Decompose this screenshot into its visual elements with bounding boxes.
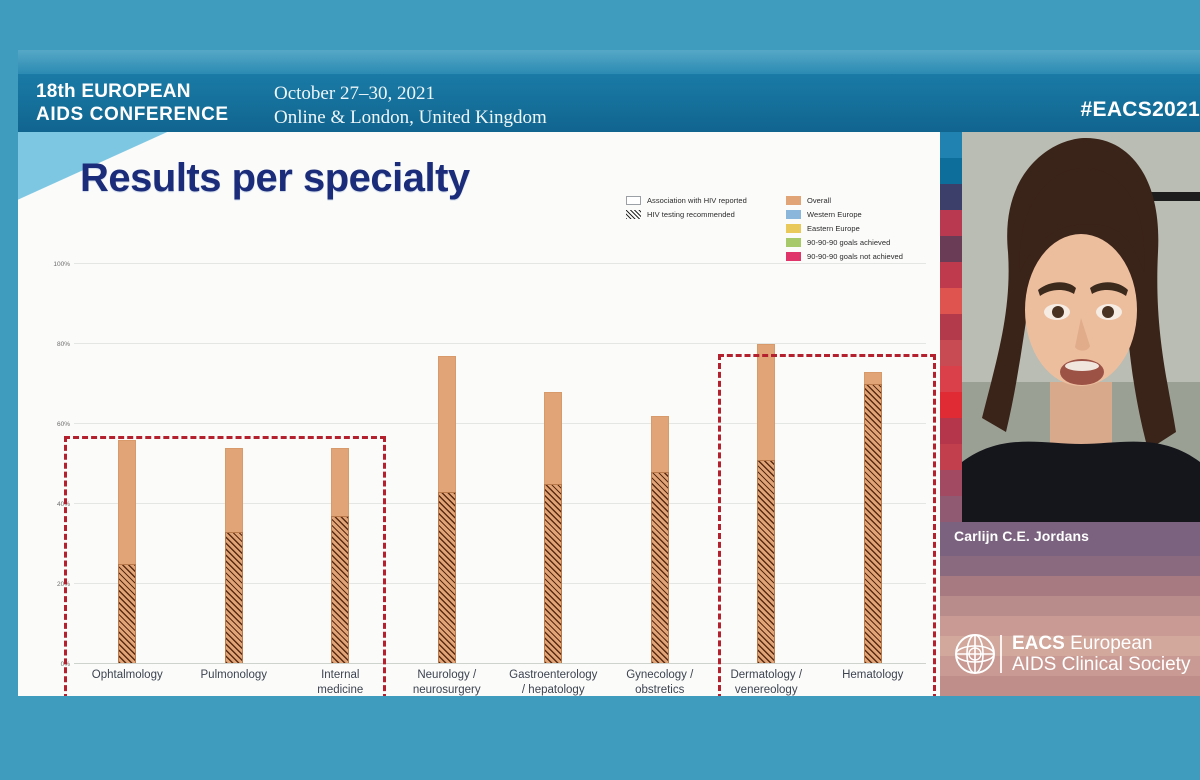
legend-item-pattern-0: Association with HIV reported xyxy=(626,194,747,206)
video-stripe xyxy=(940,444,962,470)
legend-color-swatch xyxy=(786,238,801,247)
x-axis-label-line: neurosurgery xyxy=(389,683,505,696)
legend-item-color-0: Overall xyxy=(786,194,903,206)
video-stripe xyxy=(940,392,962,418)
video-stripe xyxy=(940,418,962,444)
speaker-name: Carlijn C.E. Jordans xyxy=(954,528,1089,544)
eacs-logo: EACS European AIDS Clinical Society xyxy=(954,628,1194,680)
legend-item-color-1: Western Europe xyxy=(786,208,903,220)
eacs-acronym: EACS xyxy=(1012,633,1065,654)
annotation-box-low xyxy=(64,436,386,696)
video-background-band xyxy=(940,576,1200,596)
bar-segment-testing-recommended xyxy=(651,472,669,664)
bar-segment-testing-recommended xyxy=(438,492,456,664)
diagonal-hatch-icon xyxy=(626,210,641,219)
slide-title: Results per specialty xyxy=(80,156,470,201)
x-axis-label-line: / hepatology xyxy=(495,683,611,696)
hollow-square-icon xyxy=(626,196,641,205)
chart-bar xyxy=(438,356,456,664)
annotation-box-high xyxy=(718,354,936,696)
y-axis-tick-label: 80% xyxy=(40,341,70,348)
legend-label: Eastern Europe xyxy=(807,224,860,233)
presentation-slide: Results per specialty Association with H… xyxy=(18,132,940,696)
video-stripe xyxy=(940,314,962,340)
legend-pattern-column: Association with HIV reportedHIV testing… xyxy=(626,194,747,222)
video-stripe xyxy=(940,470,962,496)
x-axis-label-line: Neurology / xyxy=(389,668,505,683)
video-stripe xyxy=(940,158,962,184)
screen: 18th EUROPEAN AIDS CONFERENCE October 27… xyxy=(0,0,1200,780)
legend-label: Overall xyxy=(807,196,831,205)
eacs-globe-icon xyxy=(954,633,996,675)
video-background-band xyxy=(940,596,1200,616)
chart-gridline xyxy=(74,263,926,264)
legend-color-swatch xyxy=(786,224,801,233)
legend-color-swatch xyxy=(786,252,801,261)
x-axis-label: Gastroenterology/ hepatology xyxy=(495,668,611,696)
legend-item-color-2: Eastern Europe xyxy=(786,222,903,234)
video-stripe xyxy=(940,236,962,262)
video-background-band xyxy=(940,556,1200,576)
video-stripe xyxy=(940,262,962,288)
x-axis-label: Neurology /neurosurgery xyxy=(389,668,505,696)
video-stripe xyxy=(940,496,962,522)
y-axis-tick-label: 100% xyxy=(40,261,70,268)
video-stripe xyxy=(940,340,962,366)
conference-hashtag: #EACS2021 xyxy=(1081,98,1200,122)
y-axis-tick-label: 60% xyxy=(40,421,70,428)
legend-item-color-4: 90-90-90 goals not achieved xyxy=(786,250,903,262)
legend-label: 90-90-90 goals achieved xyxy=(807,238,890,247)
video-color-stripes xyxy=(940,132,962,522)
eacs-logo-text: EACS European AIDS Clinical Society xyxy=(1012,633,1190,675)
eacs-logo-line2: AIDS Clinical Society xyxy=(1012,654,1190,675)
conference-location: Online & London, United Kingdom xyxy=(274,106,547,130)
conference-name: 18th EUROPEAN AIDS CONFERENCE xyxy=(36,80,229,126)
conference-name-line1: 18th EUROPEAN xyxy=(36,80,229,103)
chart-gridline xyxy=(74,343,926,344)
eacs-logo-line1: EACS European xyxy=(1012,633,1190,654)
chart-bar xyxy=(544,392,562,664)
chart-bar xyxy=(651,416,669,664)
x-axis-label: Gynecology /obstretics xyxy=(602,668,718,696)
legend-label: 90-90-90 goals not achieved xyxy=(807,252,903,261)
conference-meta: October 27–30, 2021 Online & London, Uni… xyxy=(274,82,547,130)
legend-label: HIV testing recommended xyxy=(647,210,735,219)
conference-header: 18th EUROPEAN AIDS CONFERENCE October 27… xyxy=(18,50,1200,132)
speaker-video-feed[interactable] xyxy=(962,132,1200,522)
legend-color-column: OverallWestern EuropeEastern Europe90-90… xyxy=(786,194,903,264)
legend-label: Western Europe xyxy=(807,210,862,219)
speaker-name-bar: Carlijn C.E. Jordans xyxy=(940,522,1200,556)
video-stripe xyxy=(940,184,962,210)
x-axis-label-line: Gastroenterology xyxy=(495,668,611,683)
eacs-logo-divider xyxy=(1000,635,1002,673)
conference-name-line2: AIDS CONFERENCE xyxy=(36,103,229,126)
x-axis-label-line: obstretics xyxy=(602,683,718,696)
eacs-word-european: European xyxy=(1070,633,1152,654)
legend-item-color-3: 90-90-90 goals achieved xyxy=(786,236,903,248)
video-stripe xyxy=(940,132,962,158)
legend-item-pattern-1: HIV testing recommended xyxy=(626,208,747,220)
video-stripe xyxy=(940,366,962,392)
speaker-portrait xyxy=(962,132,1200,522)
speaker-video-panel[interactable]: Carlijn C.E. Jordans EACS European AIDS … xyxy=(940,132,1200,696)
broadcast-window: 18th EUROPEAN AIDS CONFERENCE October 27… xyxy=(18,50,1200,730)
bar-segment-testing-recommended xyxy=(544,484,562,664)
video-stripe xyxy=(940,288,962,314)
legend-label: Association with HIV reported xyxy=(647,196,747,205)
x-axis-label-line: Gynecology / xyxy=(602,668,718,683)
legend-color-swatch xyxy=(786,210,801,219)
conference-dates: October 27–30, 2021 xyxy=(274,82,547,106)
legend-color-swatch xyxy=(786,196,801,205)
video-stripe xyxy=(940,210,962,236)
